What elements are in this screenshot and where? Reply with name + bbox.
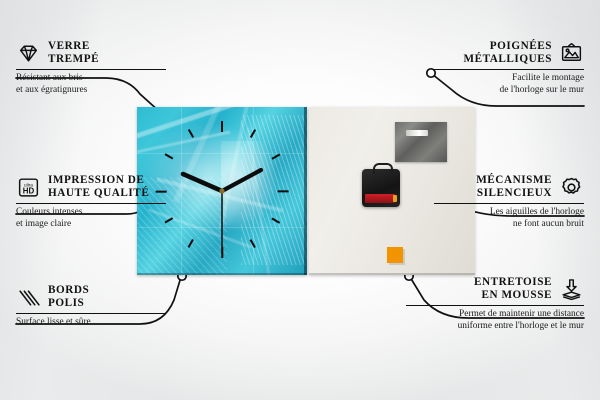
clock-mechanism-box	[362, 169, 400, 207]
feature-description: Les aiguilles de l'horloge ne font aucun…	[434, 207, 584, 230]
feature-description: Résistant aux bris et aux égratignures	[16, 73, 166, 96]
divider	[434, 69, 584, 71]
product-scene	[137, 107, 475, 275]
feature-title: ENTRETOISE EN MOUSSE	[474, 276, 552, 303]
feature-verre-trempe: VERRE TREMPÉ Résistant aux bris et aux é…	[16, 40, 166, 96]
feature-impression-haute-qualite: ultra HD IMPRESSION DE HAUTE QUALITÉ Cou…	[16, 174, 166, 230]
arrow-down-layers-icon	[559, 277, 584, 302]
divider	[16, 313, 166, 315]
feature-entretoise-en-mousse: ENTRETOISE EN MOUSSE Permet de maintenir…	[406, 276, 584, 332]
ultra-hd-icon: ultra HD	[16, 175, 41, 200]
feature-title: BORDS POLIS	[48, 284, 89, 311]
feature-poignees-metalliques: POIGNÉES MÉTALLIQUES Facilite le montage…	[434, 40, 584, 96]
feature-description: Couleurs intenses et image claire	[16, 207, 166, 230]
feature-title: MÉCANISME SILENCIEUX	[476, 174, 552, 201]
feature-title: VERRE TREMPÉ	[48, 40, 99, 67]
diamond-icon	[16, 41, 41, 66]
feature-description: Permet de maintenir une distance uniform…	[406, 309, 584, 332]
divider	[434, 203, 584, 205]
gear-icon	[559, 175, 584, 200]
divider	[406, 305, 584, 307]
battery	[365, 194, 395, 203]
feature-bords-polis: BORDS POLIS Surface lisse et sûre	[16, 284, 166, 329]
polished-edges-icon	[16, 285, 41, 310]
wall-mount-picture-icon	[559, 41, 584, 66]
infographic-canvas: VERRE TREMPÉ Résistant aux bris et aux é…	[0, 0, 600, 400]
divider	[16, 69, 166, 71]
svg-text:HD: HD	[23, 186, 35, 195]
feature-description: Surface lisse et sûre	[16, 317, 166, 328]
feature-title: IMPRESSION DE HAUTE QUALITÉ	[48, 174, 149, 201]
feature-description: Facilite le montage de l'horloge sur le …	[434, 73, 584, 96]
divider	[16, 203, 166, 205]
foam-spacer	[387, 247, 403, 263]
feature-title: POIGNÉES MÉTALLIQUES	[463, 40, 552, 67]
feature-mecanisme-silencieux: MÉCANISME SILENCIEUX Les aiguilles de l'…	[434, 174, 584, 230]
metal-hanger-plate	[395, 122, 447, 162]
